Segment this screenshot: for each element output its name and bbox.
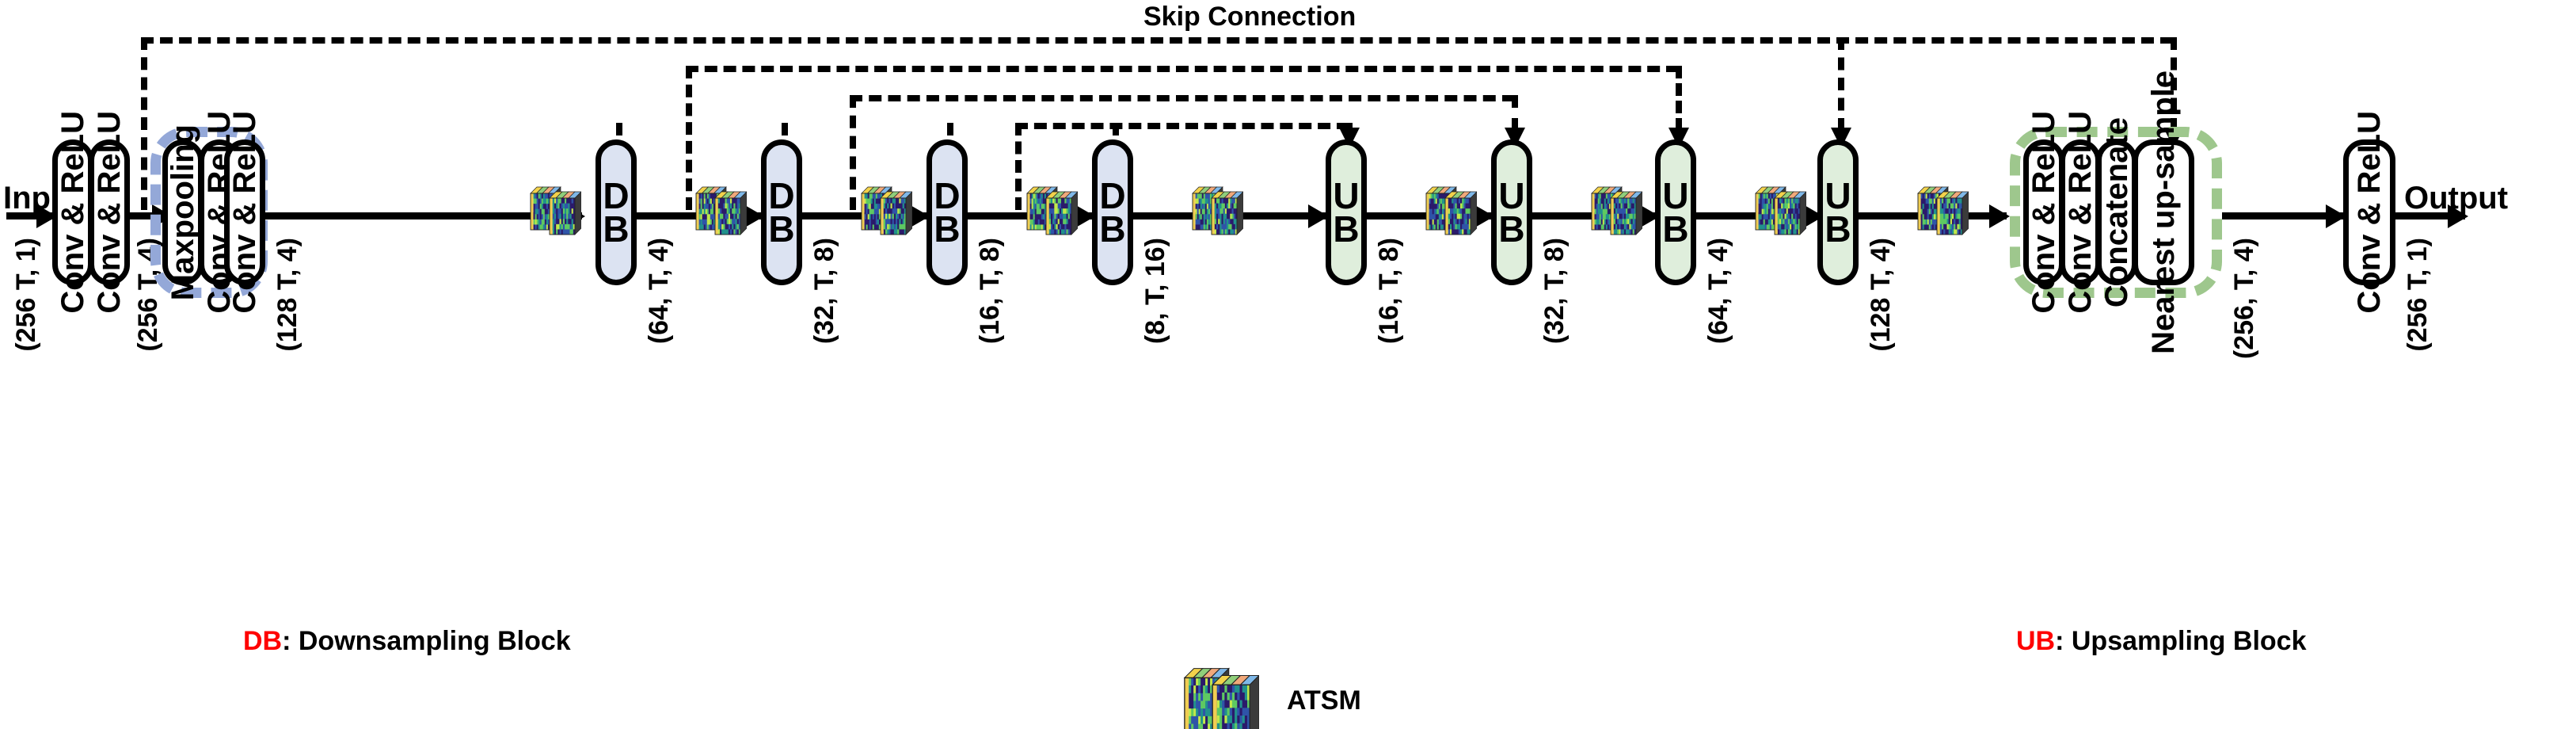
tensor-shape-6: (8, T, 16) xyxy=(1142,238,1169,344)
block-db2[interactable]: DB xyxy=(761,139,802,285)
block-conv7[interactable]: Conv & ReLU xyxy=(2343,139,2395,285)
tensor-shape-5: (16, T, 8) xyxy=(976,238,1003,344)
block-ub1-label: UB xyxy=(1333,179,1359,246)
arrow-ubgroup-to-conv7 xyxy=(2222,212,2343,219)
skip-connection-label: Skip Connection xyxy=(1143,2,1356,32)
atsm-icon-6 xyxy=(1423,176,1477,236)
tensor-shape-9: (64, T, 4) xyxy=(1705,238,1732,344)
block-conv4[interactable]: Conv & ReLU xyxy=(224,139,265,285)
block-db2-label: DB xyxy=(768,179,794,246)
skip-line-2-horizontal xyxy=(686,66,1679,72)
block-conv1-label: Conv & ReLU xyxy=(57,111,89,314)
block-db1[interactable]: DB xyxy=(595,139,637,285)
block-ub1[interactable]: UB xyxy=(1326,139,1367,285)
skip-line-4-vertical-source xyxy=(1015,123,1022,210)
atsm-icon-7 xyxy=(1589,176,1642,236)
skip-line-3-horizontal xyxy=(850,95,1515,101)
skip-line-4-horizontal xyxy=(1015,123,1349,129)
tensor-shape-7: (16, T, 8) xyxy=(1376,238,1402,344)
block-maxpooling-label: Maxpooling xyxy=(167,124,199,300)
block-ub3[interactable]: UB xyxy=(1655,139,1696,285)
block-ub4[interactable]: UB xyxy=(1817,139,1859,285)
skip-line-2-arrow-to-ub3 xyxy=(1676,66,1682,131)
arrow-input-to-conv1 xyxy=(6,212,54,219)
legend-db: DB: Downsampling Block xyxy=(243,626,571,657)
legend-db-key: DB xyxy=(243,626,282,656)
block-nearest-upsample[interactable]: Nearest up-sample xyxy=(2133,139,2194,285)
skip-line-1-vertical-source xyxy=(141,37,147,210)
atsm-icon-4 xyxy=(1024,176,1078,236)
atsm-icon-3 xyxy=(858,176,912,236)
atsm-icon-9 xyxy=(1915,176,1969,236)
block-concatenate[interactable]: Concatenate xyxy=(2096,139,2137,285)
skip-line-3-vertical-source xyxy=(850,95,856,210)
block-maxpooling[interactable]: Maxpooling xyxy=(162,139,204,285)
tensor-shape-11: (256, T, 4) xyxy=(2231,238,2258,359)
legend-atsm-label: ATSM xyxy=(1287,685,1361,716)
block-conv1[interactable]: Conv & ReLU xyxy=(52,139,93,285)
legend-ub: UB: Upsampling Block xyxy=(2016,626,2306,657)
block-db1-label: DB xyxy=(603,179,629,246)
block-db4[interactable]: DB xyxy=(1092,139,1133,285)
skip-line-1-horizontal xyxy=(141,37,2173,44)
block-db4-label: DB xyxy=(1099,179,1125,246)
skip-line-1-arrow-to-ub4 xyxy=(1838,37,1844,131)
block-db3-label: DB xyxy=(934,179,960,246)
skip-line-4-arrow-to-ub1 xyxy=(1346,123,1353,131)
block-conv6[interactable]: Conv & ReLU xyxy=(2060,139,2101,285)
block-ub2[interactable]: UB xyxy=(1491,139,1532,285)
legend-db-text: : Downsampling Block xyxy=(282,626,571,656)
block-conv2-label: Conv & ReLU xyxy=(93,111,125,314)
block-conv6-label: Conv & ReLU xyxy=(2064,111,2096,314)
block-conv4-label: Conv & ReLU xyxy=(229,111,261,314)
tensor-shape-4: (32, T, 8) xyxy=(811,238,838,344)
tensor-shape-12: (256 T, 1) xyxy=(2404,238,2431,352)
block-db3[interactable]: DB xyxy=(927,139,968,285)
tensor-shape-3: (64, T, 4) xyxy=(645,238,672,344)
tensor-shape-10: (128 T, 4) xyxy=(1867,238,1894,352)
atsm-icon-1 xyxy=(527,176,581,236)
tensor-shape-0: (256 T, 1) xyxy=(13,238,40,352)
legend-ub-key: UB xyxy=(2016,626,2055,656)
block-conv5-label: Conv & ReLU xyxy=(2028,111,2060,314)
tensor-shape-8: (32, T, 8) xyxy=(1541,238,1568,344)
atsm-icon-8 xyxy=(1752,176,1806,236)
block-ub4-label: UB xyxy=(1825,179,1851,246)
block-nearest-upsample-label: Nearest up-sample xyxy=(2148,71,2179,354)
block-conv7-label: Conv & ReLU xyxy=(2353,111,2385,314)
block-conv5[interactable]: Conv & ReLU xyxy=(2023,139,2064,285)
atsm-icon-2 xyxy=(693,176,747,236)
tensor-shape-2: (128 T, 4) xyxy=(274,238,301,352)
block-ub2-label: UB xyxy=(1498,179,1524,246)
atsm-icon-5 xyxy=(1189,176,1243,236)
block-ub3-label: UB xyxy=(1662,179,1688,246)
legend-ub-text: : Upsampling Block xyxy=(2055,626,2306,656)
skip-line-3-arrow-to-ub2 xyxy=(1512,95,1518,131)
diagram-canvas: Skip Connection Input (256 T, 1) Conv & … xyxy=(0,0,2576,729)
block-concatenate-label: Concatenate xyxy=(2101,117,2133,307)
skip-line-2-vertical-source xyxy=(686,66,692,210)
atsm-icon-legend xyxy=(1180,652,1259,729)
block-conv2[interactable]: Conv & ReLU xyxy=(89,139,130,285)
output-label: Output xyxy=(2404,181,2508,216)
